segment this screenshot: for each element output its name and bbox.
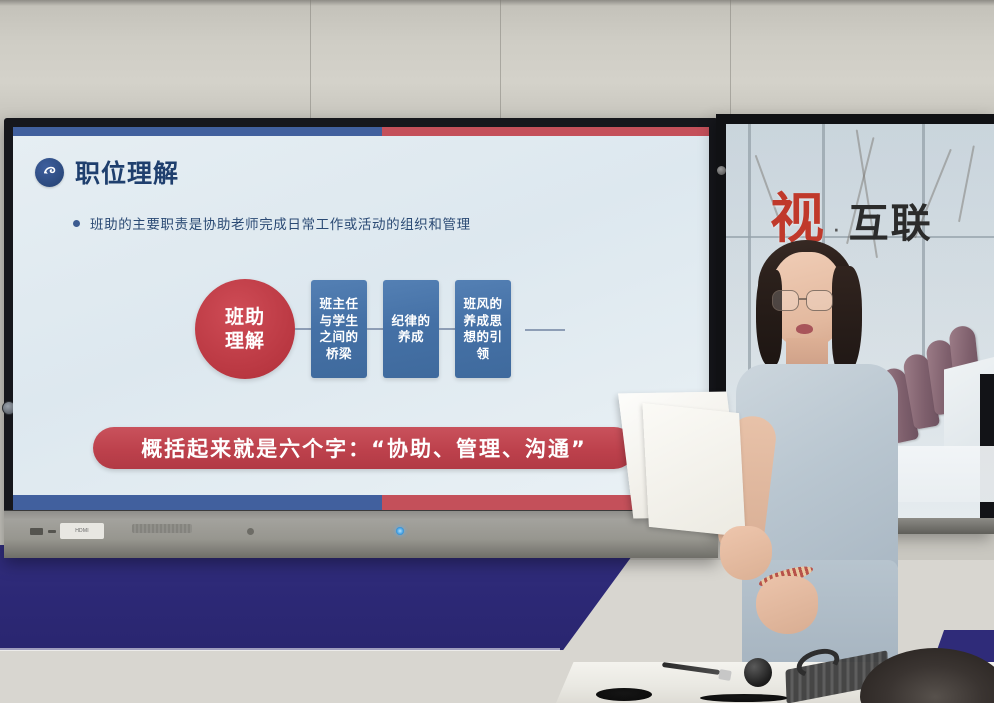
desk-cable-slot [700,694,788,702]
held-papers-second [642,403,745,537]
diagram-center-node: 班助 理解 [195,279,295,379]
accent-bar-blue [13,495,382,510]
slide-header: 职位理解 [35,154,179,190]
display-screen[interactable]: 职位理解 班助的主要职责是协助老师完成日常工作或活动的组织和管理 班助 理解 班… [13,127,709,510]
diagram-connector [367,328,383,330]
microphone-icon [744,658,772,687]
speaker-grille [132,524,192,533]
wall-navy-panel [0,545,640,650]
concept-diagram: 班助 理解 班主任与学生之间的桥梁 纪律的养成 班风的养成思想的引领 [195,279,511,379]
wall-upper [0,0,994,118]
baseboard [0,648,560,651]
slide-top-accent-bar [13,127,709,136]
slide-bullet: 班助的主要职责是协助老师完成日常工作或活动的组织和管理 [73,213,471,233]
accent-bar-blue [13,127,382,136]
glasses-lens-left [772,290,799,311]
bullet-text: 班助的主要职责是协助老师完成日常工作或活动的组织和管理 [90,213,471,233]
presenter [690,240,940,660]
display-bezel: HDMI [4,510,718,558]
ceiling-shadow [0,0,994,6]
sensor-icon [247,528,254,535]
usb-port[interactable] [30,528,43,535]
classroom-scene: 职位理解 班助的主要职责是协助老师完成日常工作或活动的组织和管理 班助 理解 班… [0,0,994,703]
center-node-line2: 理解 [225,329,265,353]
diagram-node-2: 纪律的养成 [383,280,439,378]
interactive-whiteboard[interactable]: 职位理解 班助的主要职责是协助老师完成日常工作或活动的组织和管理 班助 理解 班… [4,118,718,558]
slide-bottom-accent-bar [13,495,709,510]
wall-seam [500,0,501,118]
diagram-tail-line [525,329,565,331]
bezel-port-label: HDMI [60,523,104,539]
presentation-slide: 职位理解 班助的主要职责是协助老师完成日常工作或活动的组织和管理 班助 理解 班… [13,127,709,510]
summary-banner-text: 概括起来就是六个字：“协助、管理、沟通” [141,433,587,463]
wall-seam [730,0,731,118]
diagram-connector [439,328,455,330]
hdmi-port[interactable] [48,530,56,533]
diagram-node-1: 班主任与学生之间的桥梁 [311,280,367,378]
hair-right [832,266,862,374]
diagram-node-3: 班风的养成思想的引领 [455,280,511,378]
swirl-arrow-icon [35,158,64,187]
accent-bar-red [382,127,709,136]
hand-upper [720,526,772,580]
mouth [796,324,813,334]
center-node-line1: 班助 [225,305,265,329]
hand-lower [756,576,818,634]
glasses-bridge [799,298,807,300]
tree-branch [958,145,974,222]
secondary-display-button[interactable] [717,166,726,175]
microphone-collar [718,669,732,681]
glasses-lens-right [806,290,833,311]
power-led-icon [396,527,404,535]
hair-left [756,270,782,366]
summary-banner: 概括起来就是六个字：“协助、管理、沟通” [93,427,635,469]
bullet-dot-icon [73,220,80,227]
wall-seam [310,0,311,118]
desk-cable-hole [596,688,652,701]
diagram-connector [295,328,311,330]
page-title: 职位理解 [75,154,179,190]
